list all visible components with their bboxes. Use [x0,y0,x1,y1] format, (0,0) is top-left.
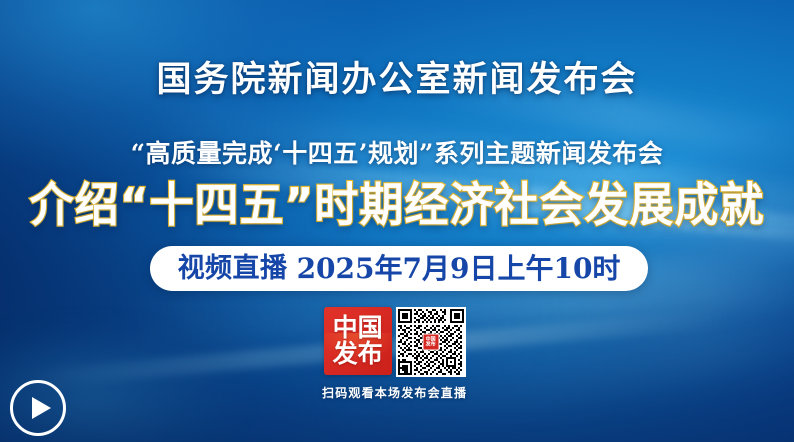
broadcast-datetime: 2025年7月9日上午10时 [297,255,621,283]
organization-title: 国务院新闻办公室新闻发布会 [0,62,794,97]
brand-logo: 中国 发布 [324,307,392,375]
brand-logo-line2: 发布 [333,341,383,368]
series-subtitle: “高质量完成‘十四五’规划”系列主题新闻发布会 [0,141,794,166]
livestream-banner: 国务院新闻办公室新闻发布会 “高质量完成‘十四五’规划”系列主题新闻发布会 介绍… [0,0,794,442]
qr-caption: 扫码观看本场发布会直播 [322,384,467,401]
broadcast-schedule-badge: 视频直播 2025年7月9日上午10时 [150,246,648,291]
page-title: 介绍“十四五”时期经济社会发展成就 [0,183,794,230]
qr-scan-block: 中国 发布 [322,307,467,401]
qr-code[interactable]: 中国 发布 [396,307,466,377]
broadcast-type-label: 视频直播 [178,255,288,282]
brand-logo-line1: 中国 [333,315,383,342]
play-button[interactable] [10,380,66,436]
play-icon [32,397,51,419]
qr-center-brand-logo: 中国 发布 [422,334,439,351]
qr-center-line2: 发布 [426,342,436,347]
